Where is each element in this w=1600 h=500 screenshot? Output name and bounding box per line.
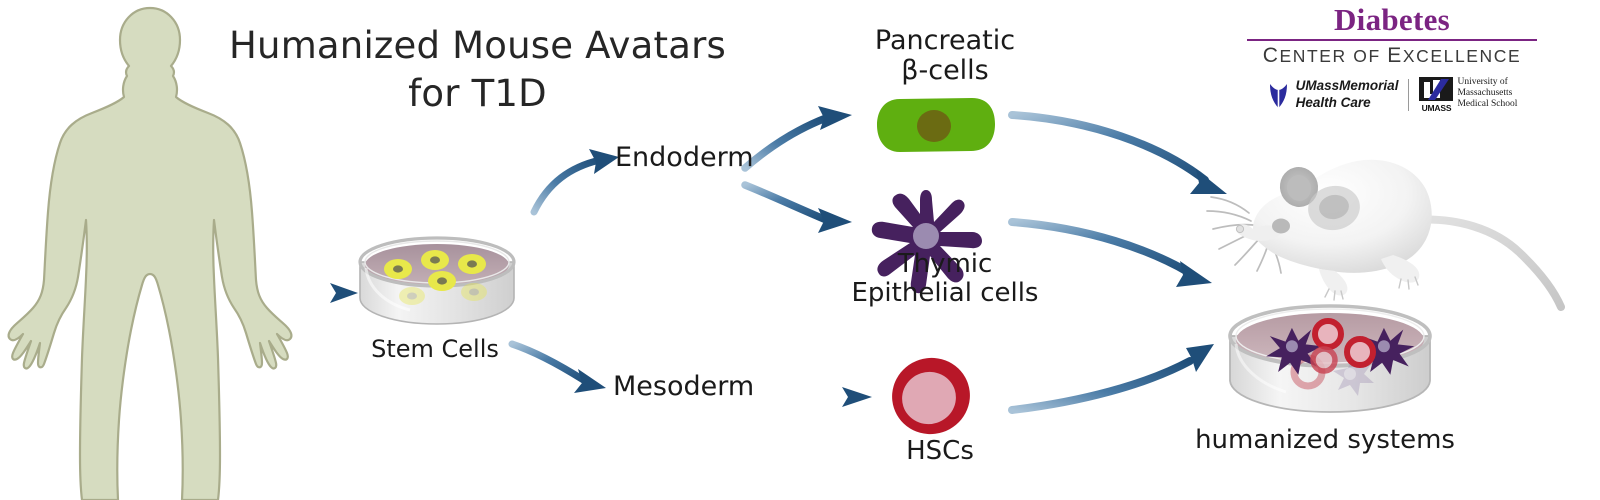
humanized-systems-dish <box>1220 300 1440 430</box>
thymic-label-line1: Thymic <box>845 250 1045 279</box>
thymic-label-line2: Epithelial cells <box>845 279 1045 308</box>
endoderm-label: Endoderm <box>615 142 754 173</box>
hsc-icon <box>890 355 972 437</box>
hscs-label: HSCs <box>870 436 1010 466</box>
diabetes-center-of-excellence-logo: Diabetes CENTER OF EXCELLENCE UMassMemor… <box>1247 4 1537 113</box>
mesoderm-label: Mesoderm <box>613 371 754 402</box>
umass-memorial-health-care-logo: UMassMemorial Health Care <box>1267 78 1399 111</box>
humanized-mouse-avatars-figure: Humanized Mouse Avatars for T1D <box>0 0 1600 500</box>
beta-cells-label-line1: Pancreatic <box>855 26 1035 56</box>
arrow-endoderm-to-thymic <box>745 185 852 233</box>
logo-center-of-excellence-subtitle: CENTER OF EXCELLENCE <box>1247 44 1537 68</box>
beta-cells-label-line2: β-cells <box>855 56 1035 86</box>
thymic-epithelial-cells-label: Thymic Epithelial cells <box>845 250 1045 308</box>
umass-medical-text: University of Massachusetts Medical Scho… <box>1457 77 1517 110</box>
umass-memorial-text: UMassMemorial Health Care <box>1296 78 1399 111</box>
humanized-systems-label: humanized systems <box>1175 425 1475 455</box>
coe-text-1: ENTER OF <box>1279 46 1387 66</box>
arrow-hscs-to-humanized-systems <box>1012 344 1214 410</box>
arrow-human-to-stemcells <box>272 283 358 303</box>
coe-text-2: XCELLENCE <box>1403 46 1521 66</box>
coe-cap-e: E <box>1387 44 1403 67</box>
umass-wordmark: UMASS <box>1419 104 1453 113</box>
arrow-stemcells-to-mesoderm <box>512 344 606 393</box>
arrow-stemcells-to-endoderm <box>534 149 619 212</box>
umass-memorial-flame-icon <box>1267 80 1290 110</box>
logo-vertical-divider <box>1408 79 1409 111</box>
partner-logos-row: UMassMemorial Health Care UMASS Universi… <box>1247 77 1537 113</box>
umass-medical-line1: University of <box>1457 77 1517 88</box>
pancreatic-beta-cell-icon <box>876 96 996 154</box>
umass-medical-mark: UMASS <box>1419 77 1453 113</box>
arrow-mesoderm-to-hscs <box>764 387 872 407</box>
coe-cap-c: C <box>1263 44 1280 67</box>
pancreatic-beta-cells-label: Pancreatic β-cells <box>855 26 1035 86</box>
umass-medical-line2: Massachusetts <box>1457 88 1517 99</box>
umass-memorial-line2: Health Care <box>1296 95 1399 111</box>
umass-medical-line3: Medical School <box>1457 99 1517 110</box>
logo-diabetes-title: Diabetes <box>1247 4 1537 35</box>
arrow-endoderm-to-betacells <box>745 106 852 168</box>
stem-cells-label: Stem Cells <box>355 335 515 363</box>
umass-memorial-line1: UMassMemorial <box>1296 78 1399 94</box>
umass-medical-school-logo: UMASS University of Massachusetts Medica… <box>1419 77 1517 113</box>
stem-cells-dish <box>352 232 522 342</box>
logo-divider-rule <box>1247 39 1537 41</box>
